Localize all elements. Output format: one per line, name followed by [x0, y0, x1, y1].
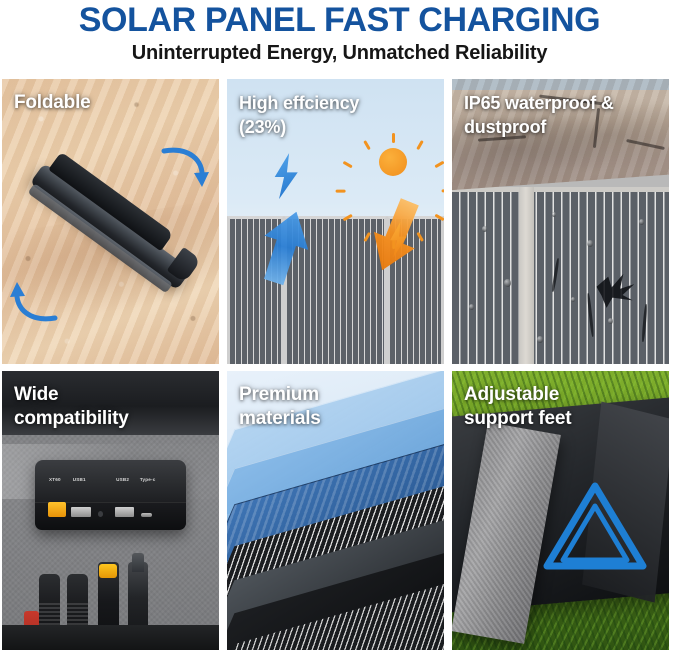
feature-caption-line1: Adjustable	[464, 384, 559, 405]
feature-grid: Foldable	[2, 79, 669, 649]
port-usb2	[115, 507, 135, 517]
sand-background	[2, 79, 219, 364]
feature-caption: Adjustable support feet	[464, 383, 661, 431]
feature-caption: Wide compatibility	[14, 383, 211, 431]
port-type-c	[141, 513, 152, 517]
feature-caption: Foldable	[14, 91, 211, 115]
feature-tile-wide-compatibility[interactable]: XT60 USB1 USB2 Type-c	[2, 371, 219, 650]
feature-caption-line1: IP65 waterproof &	[464, 93, 614, 113]
feature-caption-line2: (23%)	[239, 117, 286, 137]
feature-caption-line2: dustproof	[464, 117, 546, 137]
feature-tile-ip65[interactable]: IP65 waterproof & dustproof	[452, 79, 669, 364]
panel-bottom-edge	[2, 625, 219, 650]
port-usb1	[71, 507, 91, 517]
lightning-bolt-icon	[268, 153, 304, 199]
triangle-outline-icon	[543, 480, 647, 572]
water-splash	[592, 274, 634, 308]
port-label-usb1: USB1	[73, 477, 86, 482]
infographic-page: SOLAR PANEL FAST CHARGING Uninterrupted …	[0, 0, 679, 651]
port-dc	[98, 511, 104, 517]
panel-top-rail	[452, 187, 669, 192]
page-title: SOLAR PANEL FAST CHARGING	[0, 2, 679, 38]
feature-tile-adjustable-feet[interactable]: Adjustable support feet	[452, 371, 669, 650]
curved-arrow-icon	[9, 276, 61, 324]
feature-caption-line1: Premium	[239, 384, 319, 405]
feature-caption: IP65 waterproof & dustproof	[464, 91, 661, 139]
feature-caption-line2: support feet	[464, 408, 571, 429]
port-label-usb2: USB2	[116, 477, 129, 482]
curved-arrow-icon	[158, 145, 210, 193]
port-xt60	[48, 502, 66, 518]
panel-center-rail	[519, 187, 534, 364]
sun-icon	[364, 133, 422, 191]
feature-caption-line1: Wide	[14, 384, 58, 405]
port-label-xt60: XT60	[49, 477, 61, 482]
feature-tile-high-efficiency[interactable]: High effciency (23%)	[227, 79, 444, 364]
header: SOLAR PANEL FAST CHARGING Uninterrupted …	[0, 0, 679, 66]
junction-box: XT60 USB1 USB2 Type-c	[35, 460, 187, 530]
wet-solar-panel	[452, 187, 669, 364]
feature-caption-line2: materials	[239, 408, 321, 429]
feature-caption-line2: compatibility	[14, 408, 129, 429]
feature-tile-foldable[interactable]: Foldable	[2, 79, 219, 364]
port-label-typec: Type-c	[140, 477, 156, 482]
feature-tile-premium-materials[interactable]: Premium materials	[227, 371, 444, 650]
feature-caption-line1: High effciency	[239, 93, 359, 113]
feature-caption: High effciency (23%)	[239, 91, 436, 139]
sun-core	[379, 148, 407, 176]
page-subtitle: Uninterrupted Energy, Unmatched Reliabil…	[0, 40, 679, 66]
feature-caption: Premium materials	[239, 383, 436, 431]
port-row: XT60 USB1 USB2 Type-c	[41, 481, 181, 520]
solar-panel-array	[227, 216, 444, 364]
